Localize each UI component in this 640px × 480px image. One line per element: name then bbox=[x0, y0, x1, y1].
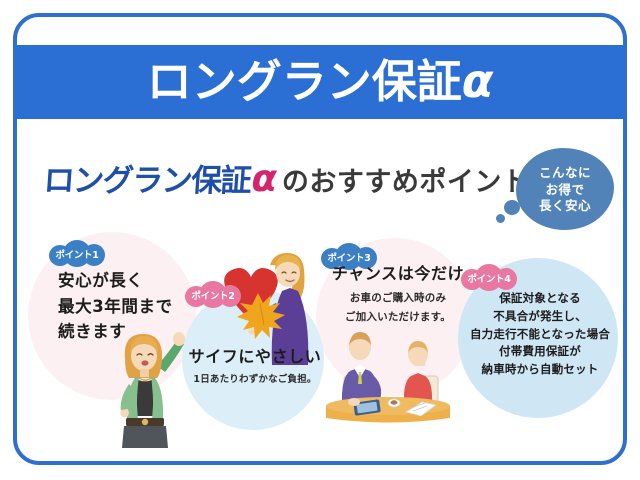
point-3-line-1: チャンスは今だけ bbox=[322, 262, 474, 287]
point-2-badge: ポイント2 bbox=[185, 281, 241, 308]
callout-line-1: こんなに bbox=[539, 165, 591, 182]
speech-bubble-callout: こんなに お得で 長く安心 bbox=[516, 148, 614, 230]
callout-line-3: 長く安心 bbox=[539, 198, 591, 215]
speech-bubble-tail-dot bbox=[496, 214, 505, 223]
point-1-text: 安心が長く 最大3年間まで 続きます bbox=[58, 268, 173, 345]
point-4-line-2: 不具合が発生し、 bbox=[461, 308, 619, 326]
point-4-line-1: 保証対象となる bbox=[461, 290, 619, 308]
point-1-line-3: 続きます bbox=[58, 319, 173, 345]
point-3-sub-line-1: お車のご購入時のみ bbox=[322, 291, 474, 306]
point-2-line-1: サイフにやさしい bbox=[187, 345, 323, 370]
point-4-line-3: 自力走行不能となった場合 bbox=[461, 326, 619, 344]
point-4-text: 保証対象となる 不具合が発生し、 自力走行不能となった場合 付帯費用保証が 納車… bbox=[461, 290, 619, 379]
point-4-line-5: 納車時から自動セット bbox=[461, 361, 619, 379]
point-2-text: サイフにやさしい 1日あたりわずかなご負担。 bbox=[187, 345, 323, 387]
banner-title-main: ロングラン保証 bbox=[147, 55, 462, 108]
subheadline: ロングラン保証 α のおすすめポイント bbox=[44, 155, 529, 200]
point-1-line-2: 最大3年間まで bbox=[58, 294, 173, 320]
point-4-line-4: 付帯費用保証が bbox=[461, 343, 619, 361]
banner-title-alpha: α bbox=[462, 54, 494, 108]
subheadline-brand: ロングラン保証 bbox=[42, 155, 252, 200]
point-4-badge-label: ポイント4 bbox=[467, 271, 510, 285]
illustration-woman-green-cardigan bbox=[105, 330, 197, 448]
point-2-sub-line-1: 1日あたりわずかなご負担。 bbox=[187, 373, 323, 387]
point-1-badge: ポイント1 bbox=[49, 240, 105, 267]
point-3-badge-label: ポイント3 bbox=[327, 250, 370, 264]
point-1-line-1: 安心が長く bbox=[58, 268, 173, 294]
advertisement-canvas: ロングラン保証α ロングラン保証 α のおすすめポイント こんなに お得で 長く… bbox=[0, 0, 640, 480]
illustration-salesman-and-customer bbox=[318, 332, 458, 432]
title-banner: ロングラン保証α bbox=[15, 45, 625, 119]
point-3-sub-line-2: ご加入いただけます。 bbox=[322, 310, 474, 325]
point-3-text: チャンスは今だけ お車のご購入時のみ ご加入いただけます。 bbox=[322, 262, 474, 325]
subheadline-rest: のおすすめポイント bbox=[282, 160, 530, 199]
banner-title-text: ロングラン保証α bbox=[147, 58, 494, 104]
callout-line-2: お得で bbox=[545, 182, 584, 199]
subheadline-alpha: α bbox=[252, 157, 277, 200]
point-1-badge-label: ポイント1 bbox=[55, 247, 98, 261]
point-2-badge-label: ポイント2 bbox=[191, 288, 234, 302]
